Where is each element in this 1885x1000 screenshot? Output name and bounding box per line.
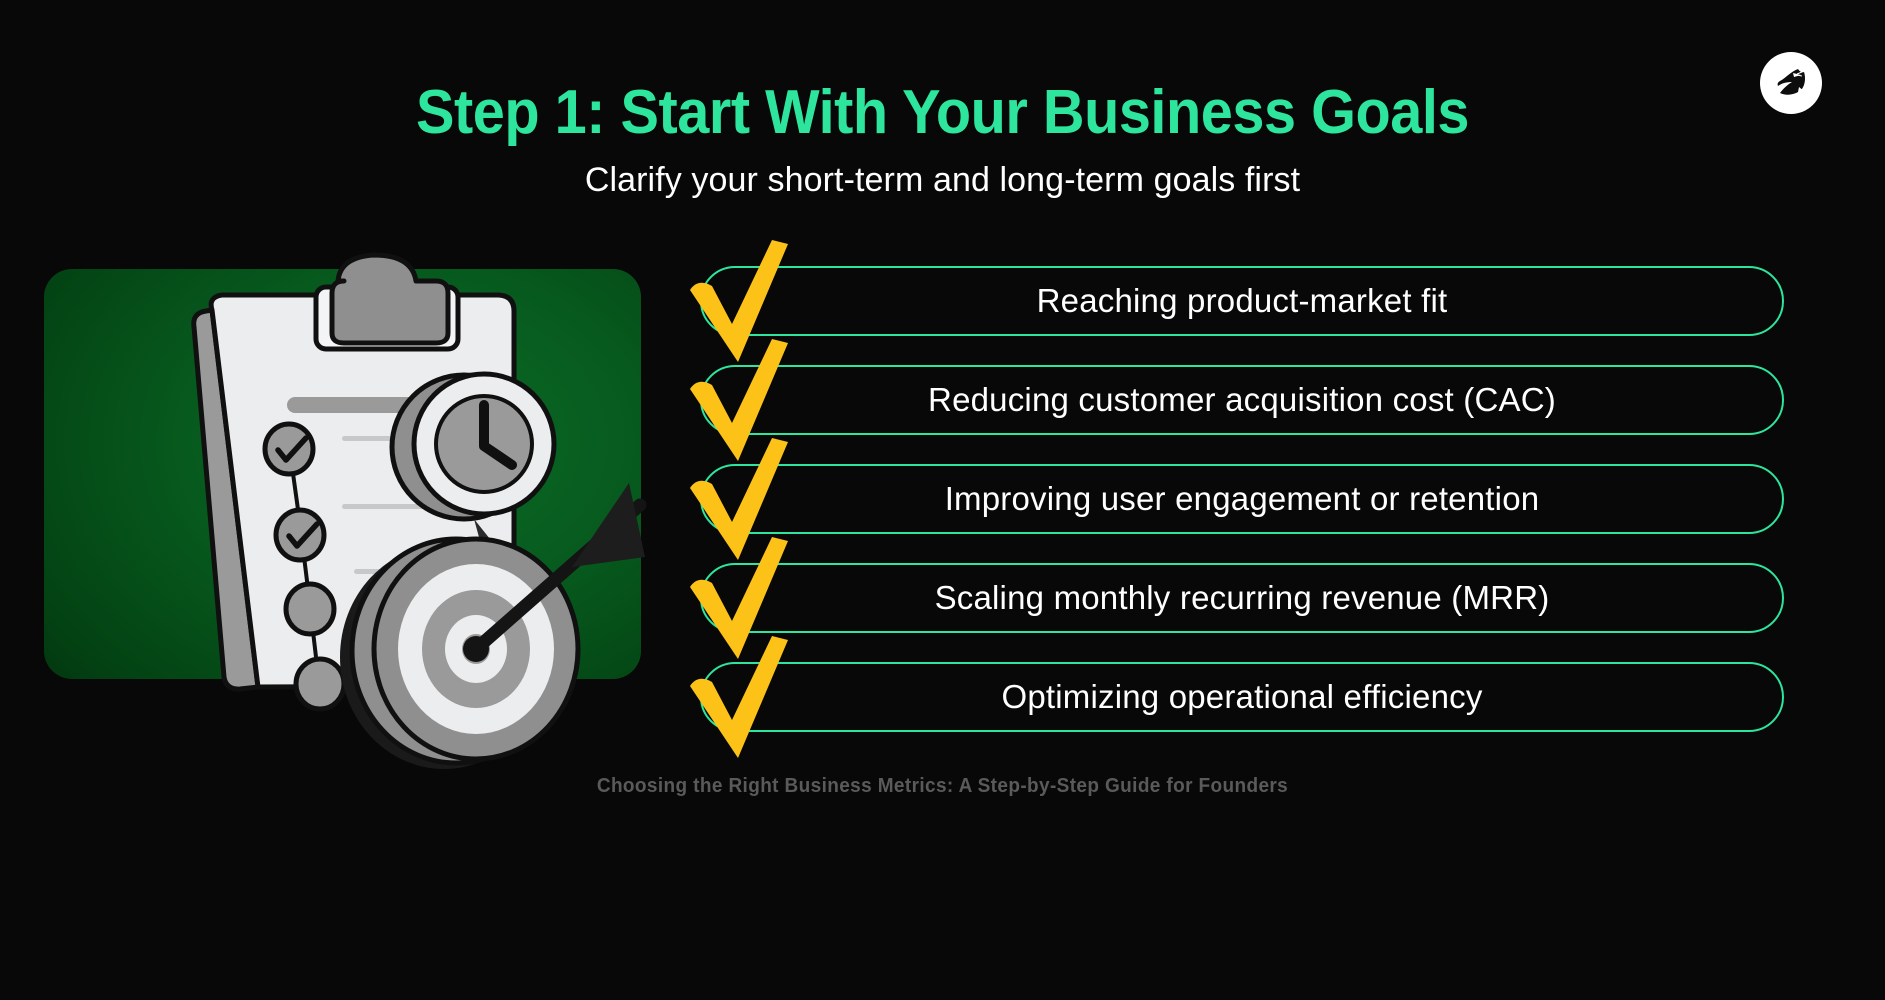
list-item-label: Reducing customer acquisition cost (CAC)	[700, 365, 1784, 435]
checklist: Reaching product-market fit Reducing cus…	[700, 266, 1790, 761]
list-item[interactable]: Reducing customer acquisition cost (CAC)	[700, 365, 1790, 453]
illustration-card	[44, 269, 641, 679]
list-item[interactable]: Reaching product-market fit	[700, 266, 1790, 354]
page-subtitle: Clarify your short-term and long-term go…	[0, 161, 1885, 200]
illustration-card-surface	[44, 269, 641, 679]
footer-caption: Choosing the Right Business Metrics: A S…	[47, 775, 1838, 798]
list-item[interactable]: Optimizing operational efficiency	[700, 662, 1790, 750]
list-item[interactable]: Improving user engagement or retention	[700, 464, 1790, 552]
slide-root: Step 1: Start With Your Business Goals C…	[0, 0, 1885, 1000]
list-item-label: Reaching product-market fit	[700, 266, 1784, 336]
bird-circle-icon	[1768, 60, 1814, 106]
list-item[interactable]: Scaling monthly recurring revenue (MRR)	[700, 563, 1790, 651]
brand-logo[interactable]	[1760, 52, 1822, 114]
list-item-label: Improving user engagement or retention	[700, 464, 1784, 534]
list-item-label: Scaling monthly recurring revenue (MRR)	[700, 563, 1784, 633]
list-item-label: Optimizing operational efficiency	[700, 662, 1784, 732]
header: Step 1: Start With Your Business Goals C…	[0, 80, 1885, 200]
check-icon	[688, 634, 798, 762]
page-title: Step 1: Start With Your Business Goals	[66, 80, 1819, 145]
